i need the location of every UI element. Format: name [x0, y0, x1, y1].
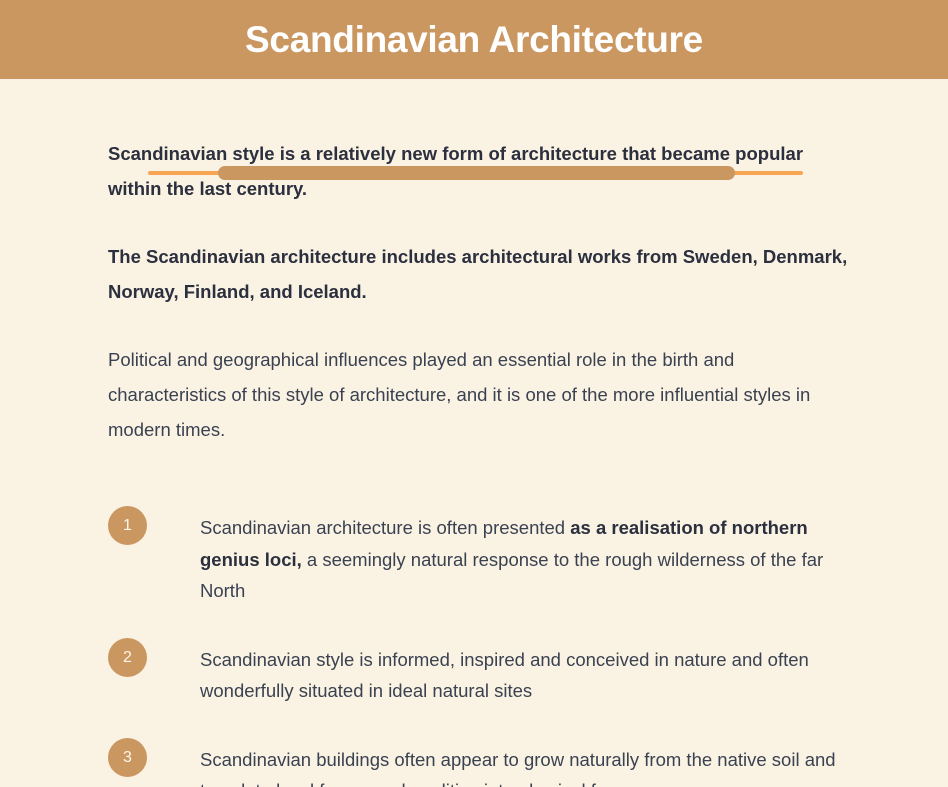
article-body: Scandinavian style is a relatively new f…: [108, 136, 850, 447]
list-item-lead: Scandinavian architecture is often prese…: [200, 517, 570, 538]
list-item-text: Scandinavian style is informed, inspired…: [200, 638, 850, 707]
page-header-band: Scandinavian Architecture: [0, 0, 948, 79]
list-number-badge: 3: [108, 738, 147, 777]
paragraph-countries: The Scandinavian architecture includes a…: [108, 239, 850, 309]
paragraph-intro: Scandinavian style is a relatively new f…: [108, 136, 850, 206]
list-item: 2 Scandinavian style is informed, inspir…: [108, 638, 850, 707]
article-page: Scandinavian Architecture Scandinavian s…: [0, 0, 948, 787]
list-item: 1 Scandinavian architecture is often pre…: [108, 506, 850, 607]
numbered-list: 1 Scandinavian architecture is often pre…: [108, 506, 850, 787]
paragraph-influences: Political and geographical influences pl…: [108, 342, 850, 447]
list-number-badge: 2: [108, 638, 147, 677]
list-item: 3 Scandinavian buildings often appear to…: [108, 738, 850, 787]
list-item-text: Scandinavian buildings often appear to g…: [200, 738, 850, 787]
list-item-text: Scandinavian architecture is often prese…: [200, 506, 850, 607]
list-item-lead: Scandinavian buildings often appear to g…: [200, 749, 836, 787]
list-number-badge: 1: [108, 506, 147, 545]
page-title: Scandinavian Architecture: [245, 21, 703, 58]
section-divider: [0, 79, 948, 115]
list-item-lead: Scandinavian style is informed, inspired…: [200, 649, 809, 702]
